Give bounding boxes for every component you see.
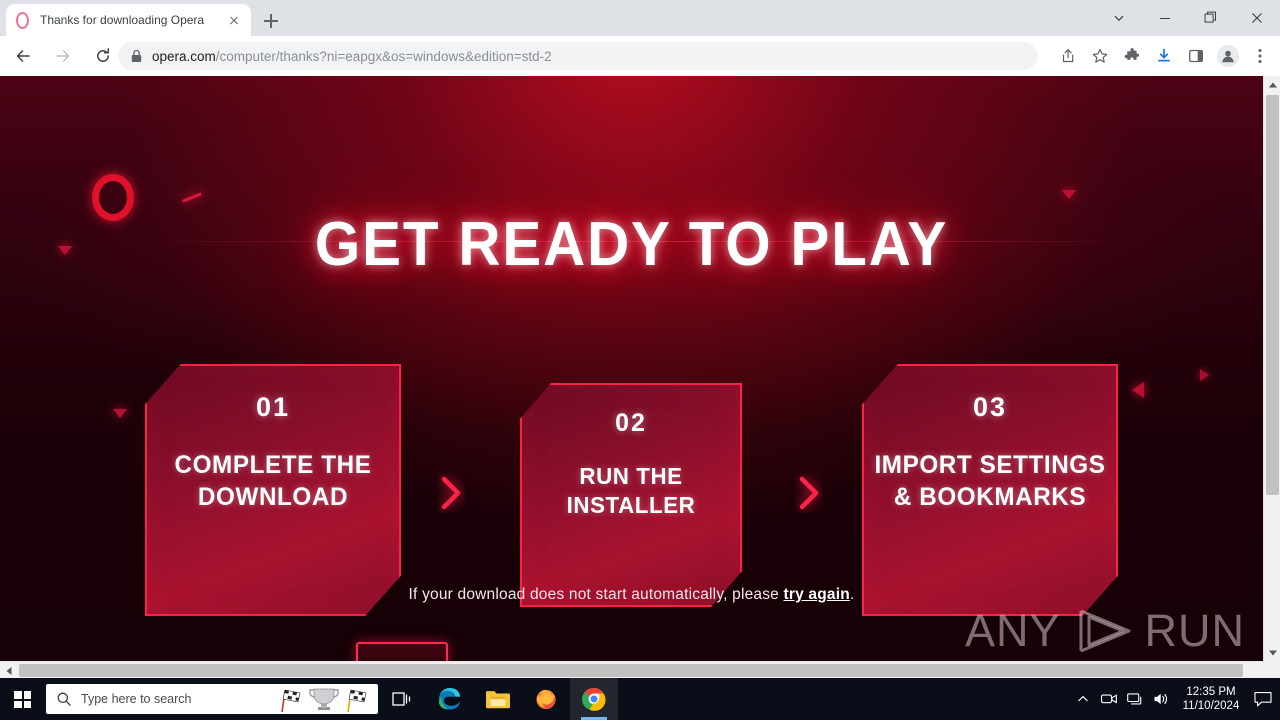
scroll-left-arrow-icon[interactable] xyxy=(0,662,17,679)
chevron-right-icon xyxy=(795,473,823,513)
step-card-3: 03 IMPORT SETTINGS & BOOKMARKS xyxy=(862,364,1118,616)
step-number: 02 xyxy=(615,409,647,438)
play-triangle-icon xyxy=(1067,607,1139,655)
maximize-icon[interactable] xyxy=(1188,0,1234,36)
windows-taskbar: Type here to search xyxy=(0,678,1280,720)
footnote-prefix: If your download does not start automati… xyxy=(409,586,784,603)
lock-icon xyxy=(130,49,143,63)
scroll-up-arrow-icon[interactable] xyxy=(1264,76,1280,93)
vertical-scrollbar-thumb[interactable] xyxy=(1266,95,1279,495)
show-hidden-icons-chevron[interactable] xyxy=(1070,678,1096,720)
screen: Thanks for downloading Opera xyxy=(0,0,1280,720)
address-bar[interactable]: opera.com/computer/thanks?ni=eapgx&os=wi… xyxy=(118,42,1038,70)
network-icon[interactable] xyxy=(1122,678,1148,720)
clock-date: 11/10/2024 xyxy=(1183,699,1240,713)
chevron-right-icon xyxy=(437,473,465,513)
close-window-icon[interactable] xyxy=(1234,0,1280,36)
scroll-down-arrow-icon[interactable] xyxy=(1264,644,1280,661)
google-chrome-icon[interactable] xyxy=(570,678,618,720)
horizontal-scrollbar-thumb[interactable] xyxy=(19,664,1243,677)
browser-tab[interactable]: Thanks for downloading Opera xyxy=(6,4,251,36)
new-tab-icon[interactable] xyxy=(258,8,284,34)
decor-triangle xyxy=(58,246,72,255)
webcam-icon[interactable] xyxy=(1096,678,1122,720)
microsoft-edge-icon[interactable] xyxy=(426,678,474,720)
step-number: 01 xyxy=(256,392,290,423)
chrome-menu-icon[interactable] xyxy=(1246,42,1274,70)
decor-triangle xyxy=(1062,190,1076,199)
step-title: RUN THE INSTALLER xyxy=(525,462,736,521)
watermark-text-left: ANY xyxy=(965,605,1061,657)
action-center-icon[interactable] xyxy=(1248,678,1280,720)
firefox-icon[interactable] xyxy=(522,678,570,720)
browser-tab-strip: Thanks for downloading Opera xyxy=(0,0,1280,36)
step-title: IMPORT SETTINGS & BOOKMARKS xyxy=(868,449,1112,513)
tab-title: Thanks for downloading Opera xyxy=(40,13,225,27)
url-domain: opera.com xyxy=(152,49,216,64)
address-bar-url: opera.com/computer/thanks?ni=eapgx&os=wi… xyxy=(152,49,552,64)
horizontal-scrollbar[interactable] xyxy=(0,661,1280,678)
opera-thanks-page: GET READY TO PLAY 01 COMPLETE THE DOWNLO… xyxy=(0,76,1263,661)
forward-arrow-icon[interactable] xyxy=(46,39,80,73)
url-path: /computer/thanks?ni=eapgx&os=windows&edi… xyxy=(216,49,552,64)
toolbar-icon-group xyxy=(1050,42,1274,70)
taskbar-clock[interactable]: 12:35 PM 11/10/2024 xyxy=(1174,678,1248,720)
profile-avatar-icon[interactable] xyxy=(1214,42,1242,70)
opera-logo-icon xyxy=(14,12,31,29)
search-input[interactable]: Type here to search xyxy=(46,684,378,714)
windows-start-icon[interactable] xyxy=(0,678,46,720)
page-viewport: GET READY TO PLAY 01 COMPLETE THE DOWNLO… xyxy=(0,76,1280,678)
back-arrow-icon[interactable] xyxy=(6,39,40,73)
download-icon[interactable] xyxy=(1150,42,1178,70)
side-panel-icon[interactable] xyxy=(1182,42,1210,70)
download-button-partial[interactable] xyxy=(356,642,448,661)
share-icon[interactable] xyxy=(1054,42,1082,70)
try-again-link[interactable]: try again xyxy=(784,586,850,603)
search-magnifier-icon xyxy=(56,691,72,707)
bookmark-star-icon[interactable] xyxy=(1086,42,1114,70)
page-title: GET READY TO PLAY xyxy=(38,209,1225,280)
system-tray: 12:35 PM 11/10/2024 xyxy=(1070,678,1280,720)
download-footnote: If your download does not start automati… xyxy=(0,586,1263,604)
racing-flags-trophy-icon xyxy=(274,686,372,714)
window-controls xyxy=(1096,0,1280,36)
reload-icon[interactable] xyxy=(86,39,120,73)
vertical-scrollbar[interactable] xyxy=(1263,76,1280,661)
scrollbar-corner xyxy=(1263,661,1280,678)
footnote-suffix: . xyxy=(850,586,855,603)
task-view-icon[interactable] xyxy=(378,678,426,720)
file-explorer-icon[interactable] xyxy=(474,678,522,720)
minimize-icon[interactable] xyxy=(1142,0,1188,36)
watermark-text-right: RUN xyxy=(1145,605,1246,657)
step-number: 03 xyxy=(973,392,1007,423)
step-card-1: 01 COMPLETE THE DOWNLOAD xyxy=(145,364,401,616)
steps-card-row: 01 COMPLETE THE DOWNLOAD 02 RUN THE INST… xyxy=(0,281,1263,561)
extensions-puzzle-icon[interactable] xyxy=(1118,42,1146,70)
search-placeholder: Type here to search xyxy=(81,692,191,706)
clock-time: 12:35 PM xyxy=(1186,685,1235,699)
anyrun-watermark: ANY RUN xyxy=(965,605,1245,657)
volume-icon[interactable] xyxy=(1148,678,1174,720)
decor-dash xyxy=(182,192,202,202)
tab-search-chevron-icon[interactable] xyxy=(1096,0,1142,36)
step-title: COMPLETE THE DOWNLOAD xyxy=(151,449,395,513)
step-card-2: 02 RUN THE INSTALLER xyxy=(520,383,742,607)
close-icon[interactable] xyxy=(225,11,243,29)
